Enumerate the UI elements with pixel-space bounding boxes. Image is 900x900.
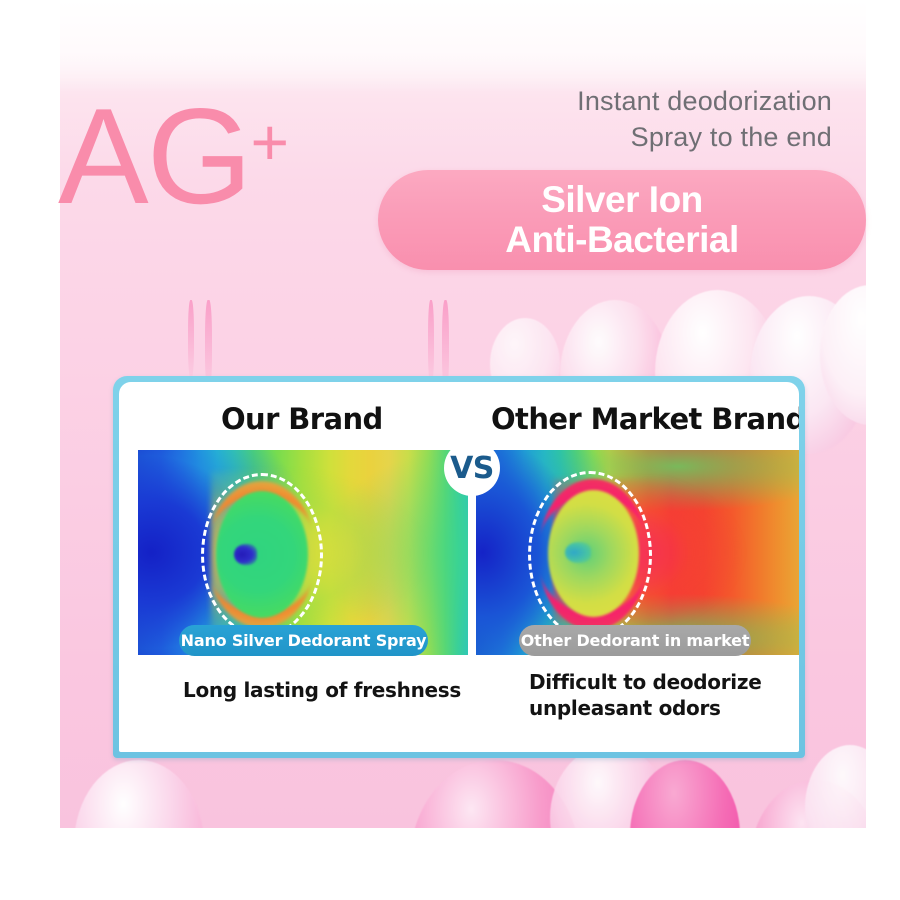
vs-badge: VS [444, 440, 500, 496]
comparison-card-inner: Our Brand Other Market Brand [119, 382, 799, 752]
comparison-card: Our Brand Other Market Brand [113, 376, 805, 758]
caption-our-brand: Long lasting of freshness [183, 678, 461, 704]
banner-line-2: Anti-Bacterial [505, 220, 739, 260]
badge-other-deodorant: Other Dedorant in market [519, 625, 751, 656]
ag-logo: AG+ [58, 88, 289, 224]
highlight-ellipse-right [528, 471, 652, 639]
bubble-shape [805, 745, 866, 828]
column-title-our-brand: Our Brand [221, 402, 383, 436]
tagline-line-2: Spray to the end [577, 120, 832, 156]
badge-nano-silver: Nano Silver Dedorant Spray [179, 625, 428, 656]
column-title-other-brand: Other Market Brand [491, 402, 799, 436]
caption-our-brand-line-1: Long lasting of freshness [183, 678, 461, 704]
caption-other-brand-line-1: Difficult to deodorize [529, 670, 761, 696]
stem-shape [188, 300, 194, 378]
top-fade [60, 0, 866, 92]
banner-line-1: Silver Ion [541, 180, 703, 220]
ag-logo-plus: + [251, 105, 290, 179]
tagline: Instant deodorization Spray to the end [577, 84, 832, 155]
bubble-shape [74, 760, 204, 828]
ag-logo-text: AG [58, 80, 251, 232]
caption-other-brand-line-2: unpleasant odors [529, 696, 761, 722]
stem-shape [428, 300, 434, 384]
tagline-line-1: Instant deodorization [577, 84, 832, 120]
marketing-banner: AG+ Instant deodorization Spray to the e… [0, 0, 900, 900]
highlight-ellipse-left [201, 473, 323, 637]
caption-other-brand: Difficult to deodorize unpleasant odors [529, 670, 761, 721]
silver-ion-banner: Silver Ion Anti-Bacterial [378, 170, 866, 270]
